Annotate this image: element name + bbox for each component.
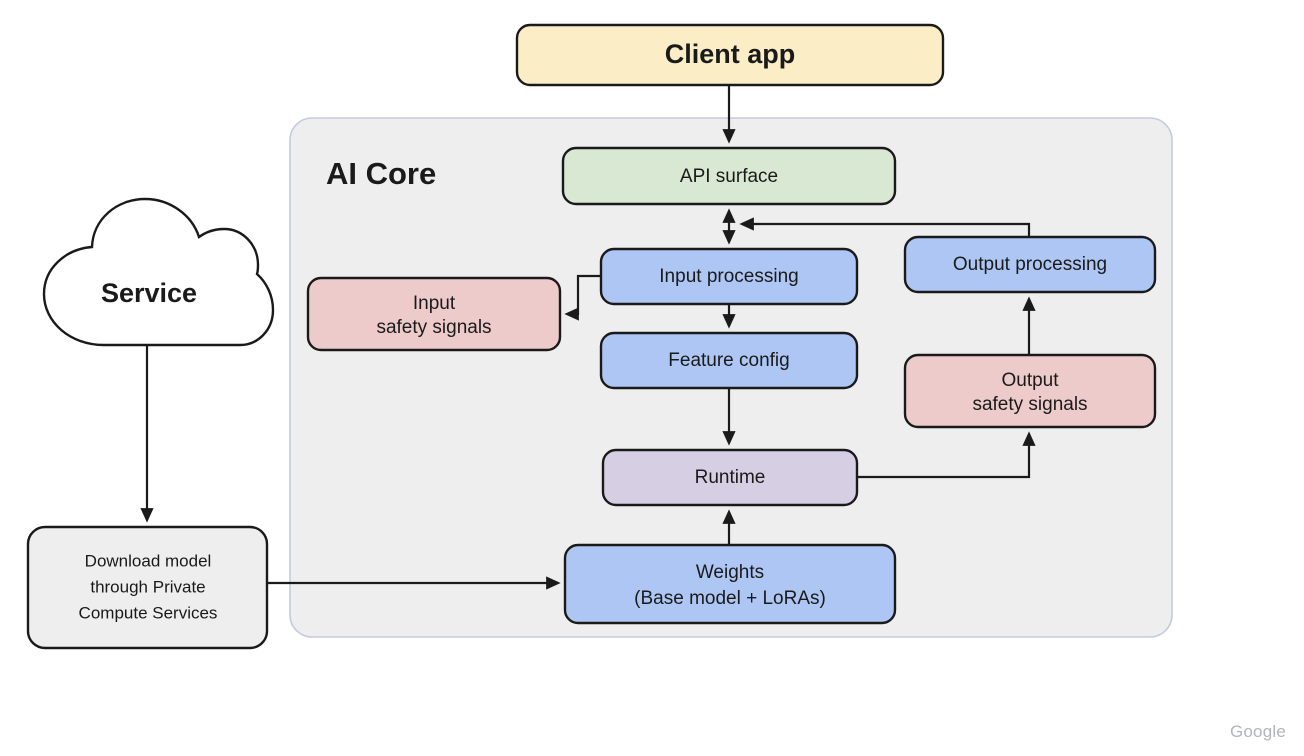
service-cloud-label: Service xyxy=(101,278,197,308)
node-api-surface-label: API surface xyxy=(680,166,778,187)
node-weights-label-line2: (Base model + LoRAs) xyxy=(634,588,826,609)
node-weights-label-line1: Weights xyxy=(696,562,764,583)
node-feature-config[interactable]: Feature config xyxy=(601,333,857,388)
node-runtime[interactable]: Runtime xyxy=(603,450,857,505)
node-output-safety-signals[interactable]: Output safety signals xyxy=(905,355,1155,427)
node-output-processing[interactable]: Output processing xyxy=(905,237,1155,292)
node-feature-config-label: Feature config xyxy=(668,350,789,371)
node-input-safety-signals-label-line2: safety signals xyxy=(376,317,491,338)
node-input-safety-signals[interactable]: Input safety signals xyxy=(308,278,560,350)
node-download-model-label-line1: Download model xyxy=(85,551,212,570)
node-weights[interactable]: Weights (Base model + LoRAs) xyxy=(565,545,895,623)
node-input-processing[interactable]: Input processing xyxy=(601,249,857,304)
service-cloud-shape xyxy=(44,199,273,345)
node-download-model-label-line3: Compute Services xyxy=(79,603,218,622)
node-api-surface[interactable]: API surface xyxy=(563,148,895,204)
node-output-safety-signals-label-line2: safety signals xyxy=(972,394,1087,415)
google-watermark: Google xyxy=(1230,722,1286,742)
node-weights-shape xyxy=(565,545,895,623)
node-runtime-label: Runtime xyxy=(695,467,766,488)
node-download-model-label-line2: through Private xyxy=(90,577,205,596)
diagram-canvas: AI Core xyxy=(0,0,1304,756)
service-cloud[interactable]: Service xyxy=(44,199,273,345)
node-client-app-label: Client app xyxy=(665,39,796,69)
node-output-processing-label: Output processing xyxy=(953,254,1107,275)
architecture-diagram: AI Core xyxy=(0,0,1304,756)
ai-core-label: AI Core xyxy=(326,156,436,191)
node-input-safety-signals-label-line1: Input xyxy=(413,293,456,314)
node-client-app[interactable]: Client app xyxy=(517,25,943,85)
node-input-processing-label: Input processing xyxy=(659,266,798,287)
node-output-safety-signals-label-line1: Output xyxy=(1001,370,1059,391)
node-download-model[interactable]: Download model through Private Compute S… xyxy=(28,527,267,648)
